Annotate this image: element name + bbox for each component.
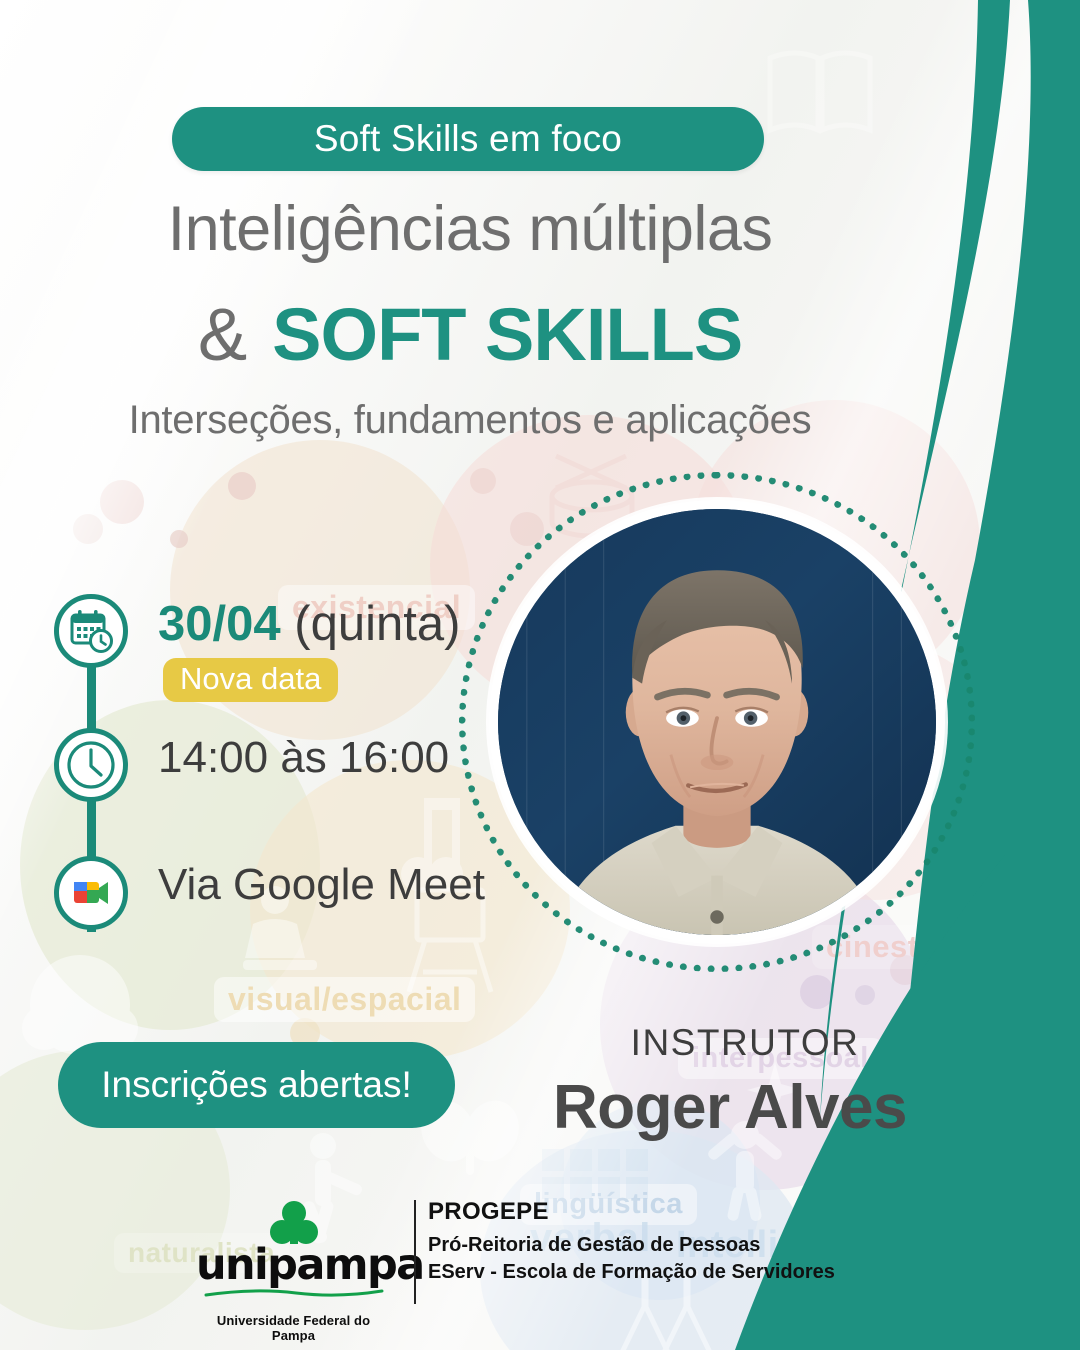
- page-title-line2: &SOFT SKILLS: [0, 292, 940, 377]
- progepe-line1: Pró-Reitoria de Gestão de Pessoas: [428, 1234, 835, 1257]
- event-details-timeline: 30/04 (quinta) Nova data 14:00 às 16:00 …: [46, 588, 516, 938]
- poster-canvas: existencial visual/espacial interpessoal…: [0, 0, 1080, 1350]
- progepe-line2: EServ - Escola de Formação de Servidores: [428, 1261, 835, 1284]
- event-date-value: 30/04: [158, 597, 281, 651]
- unipampa-subtitle: Universidade Federal do Pampa: [196, 1313, 391, 1343]
- page-subtitle: Interseções, fundamentos e aplicações: [0, 398, 940, 443]
- calendar-clock-icon: [54, 594, 128, 668]
- instructor-portrait: [459, 472, 975, 972]
- event-date-row: 30/04 (quinta): [158, 596, 460, 652]
- instructor-name: Roger Alves: [515, 1072, 945, 1143]
- kicker-pill: Soft Skills em foco: [172, 107, 764, 171]
- title-highlight: SOFT SKILLS: [272, 293, 742, 376]
- registration-cta-label: Inscrições abertas!: [101, 1064, 412, 1106]
- ampersand: &: [198, 293, 246, 376]
- progepe-acronym: PROGEPE: [428, 1198, 835, 1226]
- progepe-block: PROGEPE Pró-Reitoria de Gestão de Pessoa…: [428, 1198, 835, 1284]
- google-meet-icon: [54, 856, 128, 930]
- instructor-label: INSTRUTOR: [555, 1022, 935, 1064]
- unipampa-logo: unipampa Universidade Federal do Pampa: [196, 1200, 391, 1343]
- event-date-weekday: (quinta): [294, 597, 460, 651]
- footer: unipampa Universidade Federal do Pampa P…: [0, 1196, 1080, 1326]
- registration-cta-button[interactable]: Inscrições abertas!: [58, 1042, 455, 1128]
- page-title-line1: Inteligências múltiplas: [0, 193, 940, 265]
- clock-icon: [54, 728, 128, 802]
- event-time: 14:00 às 16:00: [158, 733, 449, 783]
- new-date-badge: Nova data: [163, 658, 338, 702]
- event-platform: Via Google Meet: [158, 860, 485, 910]
- footer-divider: [414, 1200, 416, 1304]
- kicker-label: Soft Skills em foco: [314, 118, 622, 160]
- portrait-frame: [489, 500, 945, 944]
- portrait-photo: [498, 509, 936, 935]
- unipampa-wordmark: unipampa: [196, 1244, 391, 1287]
